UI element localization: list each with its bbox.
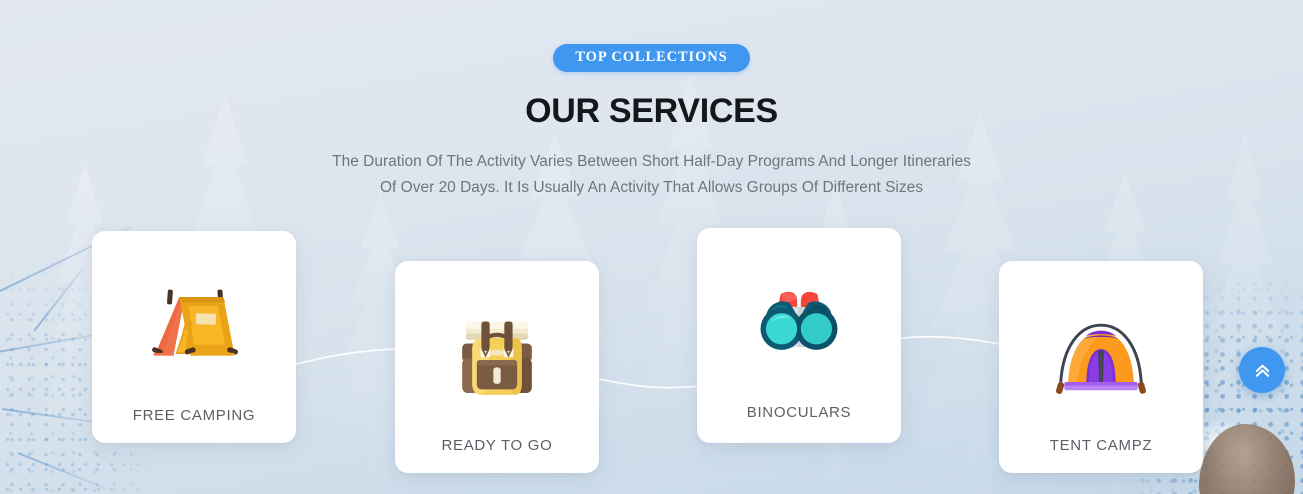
service-card-label: TENT CAMPZ (1050, 437, 1153, 454)
page-title: OUR SERVICES (0, 92, 1303, 131)
service-card-label: BINOCULARS (747, 404, 852, 421)
description-line-1: The Duration Of The Activity Varies Betw… (0, 149, 1303, 175)
frost-branch (18, 452, 108, 490)
dome-tent-icon (1046, 305, 1156, 415)
binoculars-icon (744, 272, 854, 382)
description-line-2: Of Over 20 Days. It Is Usually An Activi… (0, 175, 1303, 201)
service-card-label: READY TO GO (441, 437, 552, 454)
service-card-tent-campz[interactable]: TENT CAMPZ (999, 261, 1203, 473)
service-card-ready-to-go[interactable]: READY TO GO (395, 261, 599, 473)
section-description: The Duration Of The Activity Varies Betw… (0, 149, 1303, 201)
section-badge: TOP COLLECTIONS (553, 44, 749, 72)
service-card-free-camping[interactable]: FREE CAMPING (92, 231, 296, 443)
frost-branch (33, 269, 82, 332)
a-frame-tent-icon (139, 275, 249, 385)
service-card-label: FREE CAMPING (133, 407, 256, 424)
rock-outcrop (1199, 424, 1295, 494)
double-chevron-up-icon (1252, 360, 1273, 381)
scroll-to-top-button[interactable] (1239, 347, 1285, 393)
section-header: TOP COLLECTIONS OUR SERVICES The Duratio… (0, 0, 1303, 201)
backpack-icon (442, 305, 552, 415)
services-section: TOP COLLECTIONS OUR SERVICES The Duratio… (0, 0, 1303, 494)
service-card-binoculars[interactable]: BINOCULARS (697, 228, 901, 443)
